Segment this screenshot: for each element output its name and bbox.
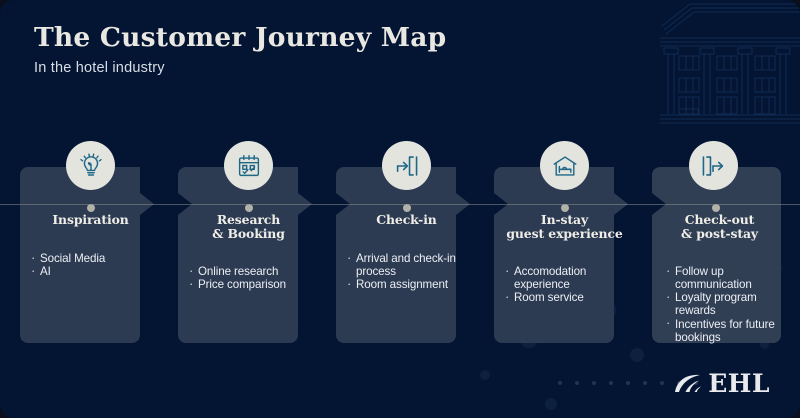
list-item: Social Media (31, 253, 155, 266)
ehl-logo-text: EHL (708, 371, 770, 396)
stage-bullet-list: Follow up communication Loyalty program … (666, 266, 779, 345)
header: The Customer Journey Map In the hotel in… (34, 22, 446, 76)
check-out-door-arrow-out-icon (689, 141, 738, 190)
journey-stage-card-inspiration[interactable]: Inspiration Social Media AI (20, 167, 161, 343)
journey-stage-card-research-booking[interactable]: Research & Booking Online research Price… (178, 167, 319, 343)
list-item: Room assignment (347, 279, 471, 292)
journey-stage-card-check-out[interactable]: Check-out & post-stay Follow up communic… (652, 167, 781, 343)
list-item: Accomodation experience (505, 266, 629, 292)
ehl-swoosh-logo-icon (672, 371, 704, 396)
journey-timeline-line (0, 204, 800, 205)
bed-house-icon (540, 141, 589, 190)
stage-bullet-list: Social Media AI (31, 253, 155, 280)
check-in-door-arrow-in-icon (382, 141, 431, 190)
stage-heading: Check-out & post-stay (658, 213, 781, 240)
stage-heading: Research & Booking (178, 213, 319, 240)
journey-stage-card-check-in[interactable]: Check-in Arrival and check-in process Ro… (336, 167, 477, 343)
list-item: Room service (505, 292, 629, 305)
lightbulb-idea-icon (66, 141, 115, 190)
calendar-checklist-icon (224, 141, 273, 190)
stage-heading: Inspiration (20, 213, 161, 227)
ehl-logo: EHL (672, 371, 770, 396)
list-item: Arrival and check-in process (347, 253, 471, 279)
journey-stage-card-in-stay[interactable]: In-stay guest experience Accomodation ex… (494, 167, 635, 343)
card-content: Inspiration Social Media AI (20, 167, 161, 343)
list-item: Price comparison (189, 279, 313, 292)
page-title: The Customer Journey Map (34, 22, 446, 53)
stage-bullet-list: Online research Price comparison (189, 266, 313, 293)
timeline-node-dot (712, 204, 720, 212)
list-item: Incentives for future bookings (666, 319, 779, 345)
stage-bullet-list: Arrival and check-in process Room assign… (347, 253, 471, 293)
card-content: Check-in Arrival and check-in process Ro… (336, 167, 477, 343)
page-subtitle: In the hotel industry (34, 60, 446, 76)
timeline-node-dot (561, 204, 569, 212)
stage-heading: Check-in (336, 213, 477, 227)
card-content: In-stay guest experience Accomodation ex… (494, 167, 635, 343)
timeline-node-dot (245, 204, 253, 212)
list-item: Loyalty program rewards (666, 292, 779, 318)
list-item: Follow up communication (666, 266, 779, 292)
stage-heading: In-stay guest experience (494, 213, 635, 240)
card-content: Research & Booking Online research Price… (178, 167, 319, 343)
timeline-node-dot (403, 204, 411, 212)
timeline-node-dot (87, 204, 95, 212)
list-item: AI (31, 266, 155, 279)
stage-bullet-list: Accomodation experience Room service (505, 266, 629, 306)
list-item: Online research (189, 266, 313, 279)
infographic-canvas: The Customer Journey Map In the hotel in… (0, 0, 800, 418)
card-content: Check-out & post-stay Follow up communic… (652, 167, 781, 343)
